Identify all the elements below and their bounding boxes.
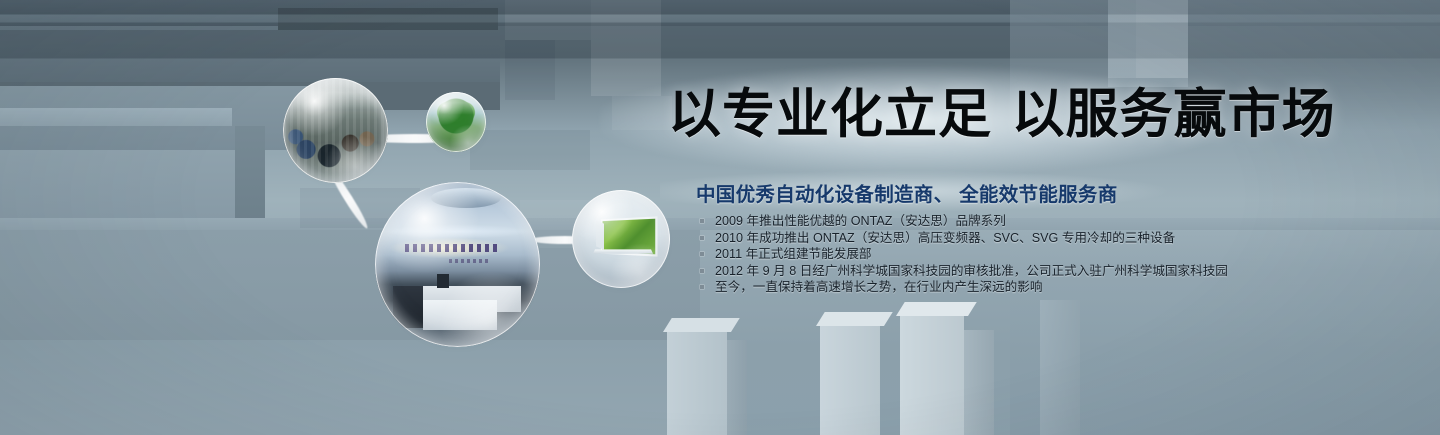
list-item: 2010 年成功推出 ONTAZ（安达思）高压变频器、SVC、SVG 专用冷却的… — [698, 230, 1228, 247]
list-item-label: 2012 年 9 月 8 日经广州科学城国家科技园的审核批准，公司正式入驻广州科… — [715, 264, 1228, 278]
list-item: 2012 年 9 月 8 日经广州科学城国家科技园的审核批准，公司正式入驻广州科… — [698, 263, 1228, 280]
bullet-square-icon — [700, 252, 704, 256]
achievement-list: 2009 年推出性能优越的 ONTAZ（安达思）品牌系列 2010 年成功推出 … — [698, 213, 1228, 296]
bullet-square-icon — [700, 285, 704, 289]
list-item-label: 2010 年成功推出 ONTAZ（安达思）高压变频器、SVC、SVG 专用冷却的… — [715, 231, 1175, 245]
list-item-label: 2011 年正式组建节能发展部 — [715, 247, 872, 261]
page-title: 以专业化立足 以服务赢市场 — [668, 88, 1335, 141]
list-item: 2009 年推出性能优越的 ONTAZ（安达思）品牌系列 — [698, 213, 1228, 230]
bullet-square-icon — [700, 269, 704, 273]
list-item: 2011 年正式组建节能发展部 — [698, 246, 1228, 263]
list-item: 至今，一直保持着高速增长之势，在行业内产生深远的影响 — [698, 279, 1228, 296]
bullet-square-icon — [700, 236, 704, 240]
bullet-square-icon — [700, 219, 704, 223]
list-item-label: 至今，一直保持着高速增长之势，在行业内产生深远的影响 — [715, 280, 1042, 294]
list-item-label: 2009 年推出性能优越的 ONTAZ（安达思）品牌系列 — [715, 214, 1006, 228]
company-profile-banner: 以专业化立足 以服务赢市场 中国优秀自动化设备制造商、 全能效节能服务商 200… — [0, 0, 1440, 435]
subtitle: 中国优秀自动化设备制造商、 全能效节能服务商 — [696, 178, 1118, 207]
